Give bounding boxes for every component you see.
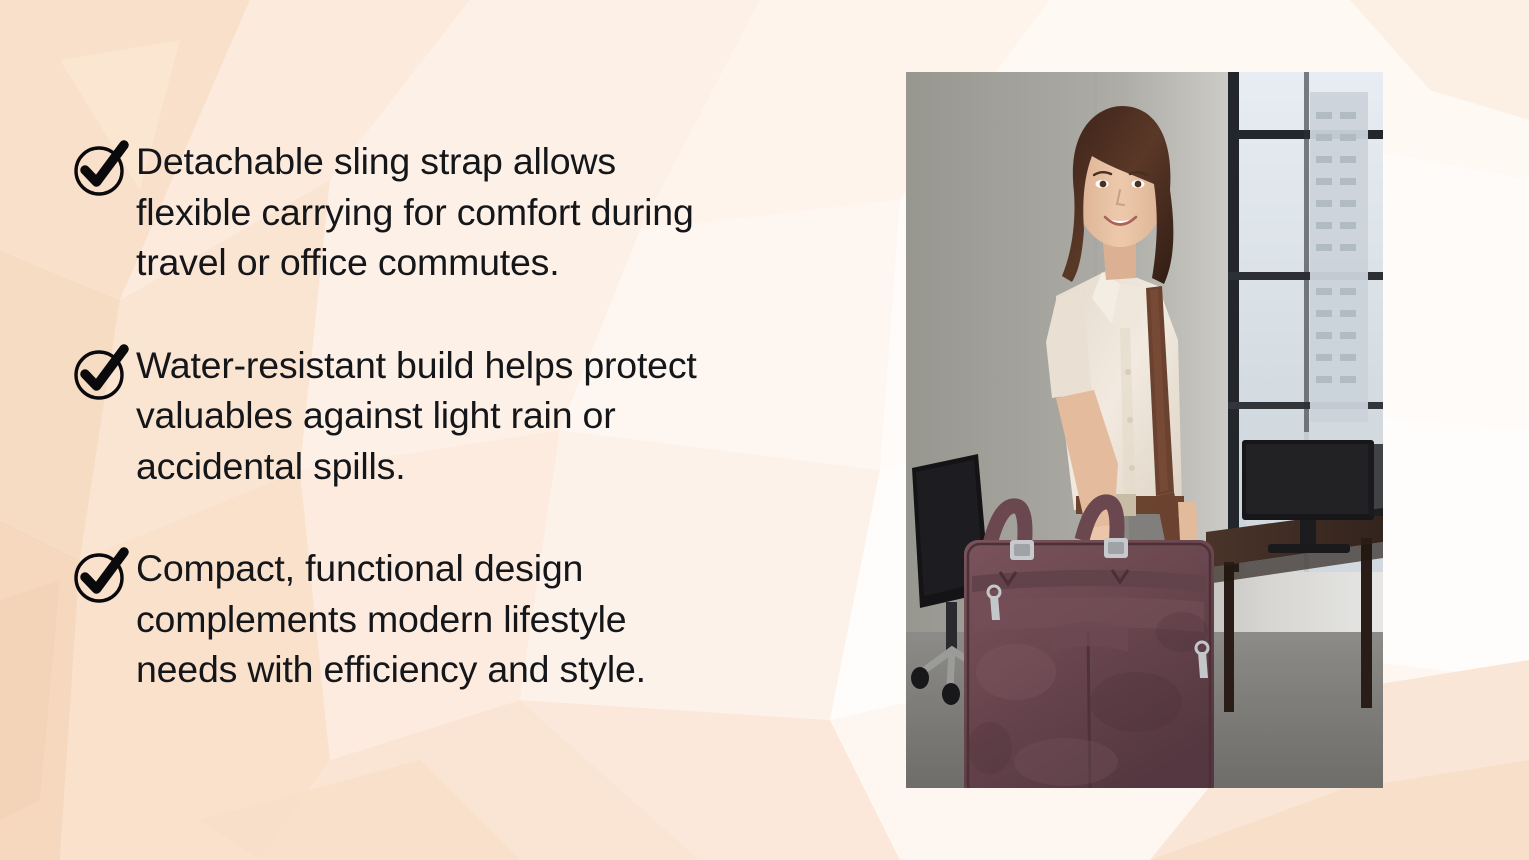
feature-bullet-list: Detachable sling strap allows flexible c… (72, 136, 792, 695)
feature-bullet-item: Compact, functional design complements m… (72, 543, 792, 695)
feature-bullet-text: Water-resistant build helps protect valu… (136, 340, 792, 492)
product-lifestyle-photo (906, 72, 1383, 788)
check-circle-icon (72, 140, 130, 198)
slide-canvas: Detachable sling strap allows flexible c… (0, 0, 1529, 860)
feature-bullet-item: Detachable sling strap allows flexible c… (72, 136, 792, 288)
feature-bullet-text: Compact, functional design complements m… (136, 543, 792, 695)
check-circle-icon (72, 547, 130, 605)
check-circle-icon (72, 344, 130, 402)
feature-bullet-text: Detachable sling strap allows flexible c… (136, 136, 792, 288)
feature-bullet-item: Water-resistant build helps protect valu… (72, 340, 792, 492)
